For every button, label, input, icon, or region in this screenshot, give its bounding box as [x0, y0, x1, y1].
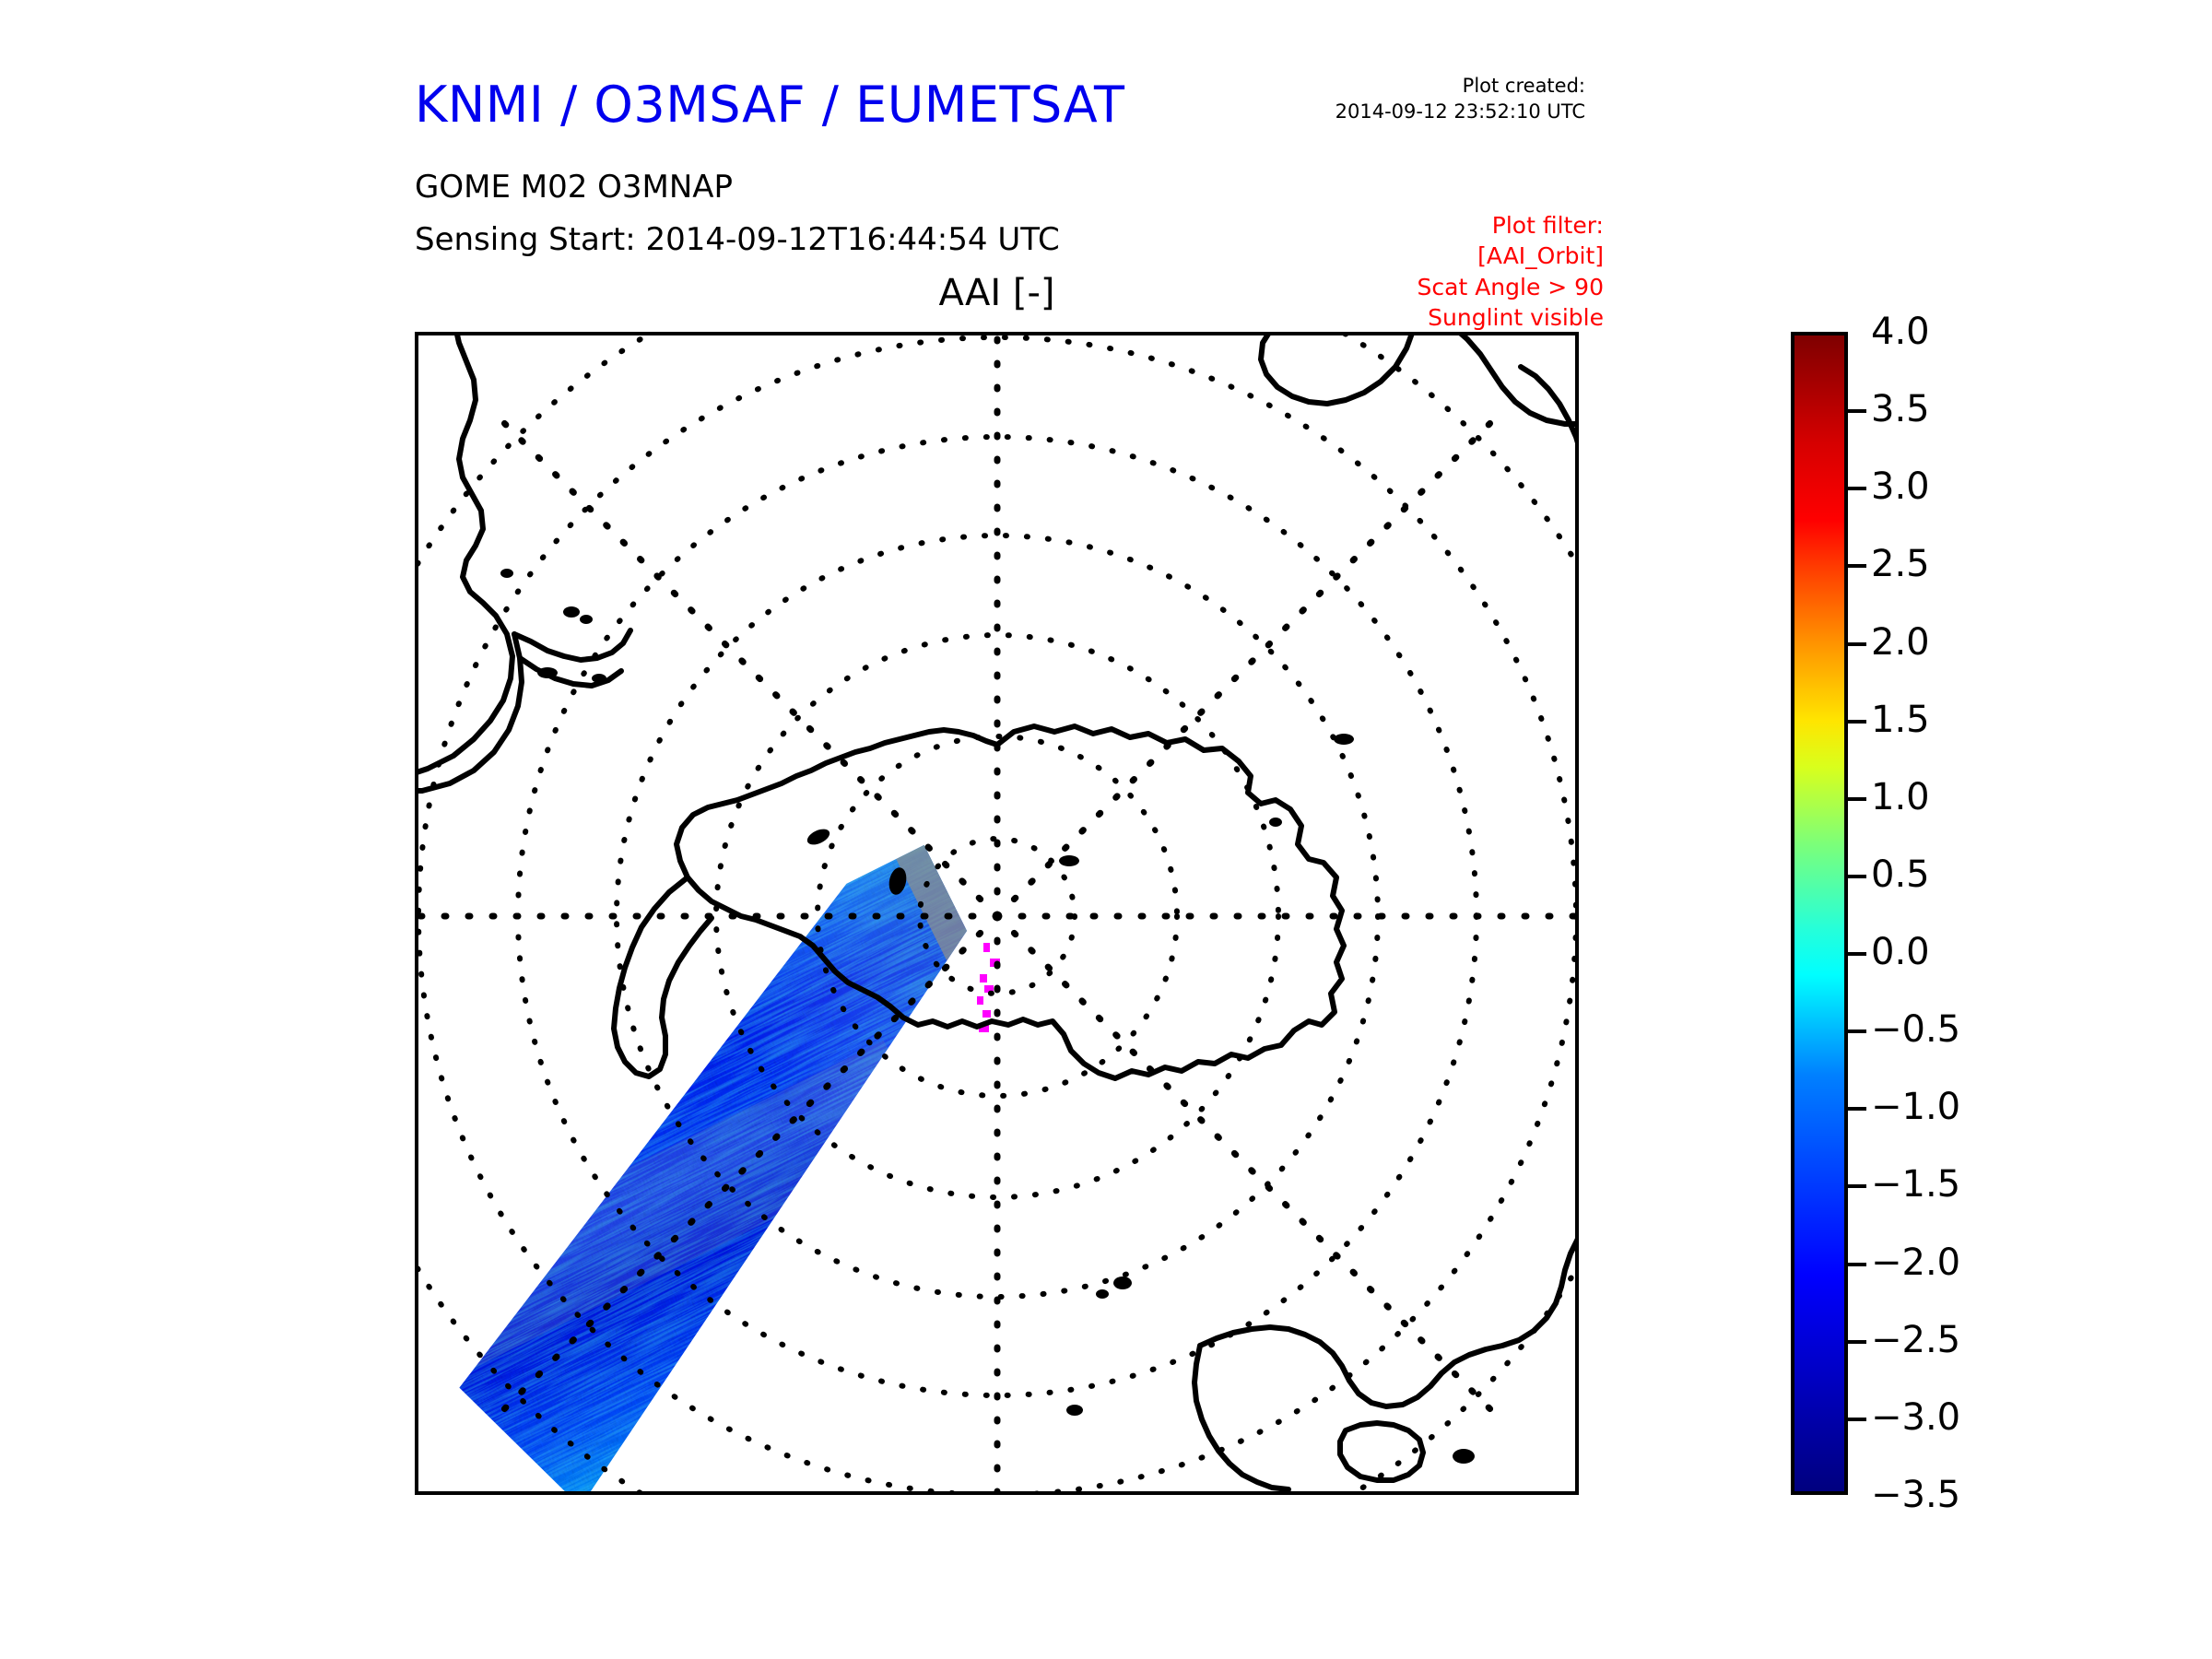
colorbar-tick-label: 4.0	[1871, 311, 1930, 353]
map-title: AAI [-]	[415, 272, 1579, 314]
colorbar-tick	[1848, 487, 1866, 490]
meridian-45	[997, 414, 1500, 916]
coastline-antarctic-peninsula	[614, 877, 712, 1077]
coastline-tierra-del-fuego-south	[520, 658, 621, 686]
colorbar-tick-label: −3.5	[1871, 1474, 1960, 1516]
map-plot-area[interactable]	[415, 332, 1579, 1495]
brand-title: KNMI / O3MSAF / EUMETSAT	[415, 76, 1124, 134]
coastline-australia-south	[1194, 1346, 1288, 1489]
colorbar-tick	[1848, 1107, 1866, 1111]
swath-seam	[928, 1002, 988, 1105]
coastline-south-america	[418, 335, 512, 783]
colorbar	[1791, 332, 1848, 1495]
plot-filter-label: Plot filter:	[1198, 210, 1604, 241]
islands-indian-ocean	[1269, 734, 1354, 827]
sensing-start-line: Sensing Start: 2014-09-12T16:44:54 UTC	[415, 221, 1060, 258]
colorbar-tick-label: 1.5	[1871, 699, 1930, 741]
colorbar-tick-label: −2.5	[1871, 1319, 1960, 1361]
coastline-tierra-del-fuego	[514, 630, 630, 660]
map-canvas	[418, 335, 1575, 1491]
coastline-tasmania	[1340, 1423, 1423, 1480]
colorbar-tick-label: 3.0	[1871, 465, 1930, 508]
coastline-australia	[1200, 1239, 1575, 1406]
colorbar-tick	[1848, 409, 1866, 413]
colorbar-tick-label: −0.5	[1871, 1008, 1960, 1051]
colorbar-tick-label: 0.0	[1871, 931, 1930, 973]
dataset-line: GOME M02 O3MNAP	[415, 169, 733, 206]
colorbar-tick-label: −1.0	[1871, 1086, 1960, 1128]
colorbar-tick	[1848, 797, 1866, 801]
colorbar-tick	[1848, 720, 1866, 724]
colorbar-tick-label: −2.0	[1871, 1241, 1960, 1284]
meridian-135	[997, 916, 1500, 1418]
colorbar-tick	[1848, 1030, 1866, 1033]
colorbar-tick	[1848, 1263, 1866, 1266]
colorbar-tick-labels: 4.03.53.02.52.01.51.00.50.0−0.5−1.0−1.5−…	[1871, 332, 2147, 1495]
colorbar-tick	[1848, 952, 1866, 956]
coastline-africa	[1261, 335, 1419, 404]
coastline-africa-east	[1419, 335, 1575, 424]
colorbar-tick-label: 3.5	[1871, 388, 1930, 430]
colorbar-tick-label: 1.0	[1871, 776, 1930, 818]
colorbar-tick	[1848, 642, 1866, 646]
colorbar-tick	[1848, 564, 1866, 568]
colorbar-tick	[1848, 1340, 1866, 1344]
colorbar-tick-label: 0.5	[1871, 853, 1930, 896]
colorbar-tick-label: 2.5	[1871, 543, 1930, 585]
meridian-315	[495, 414, 997, 916]
colorbar-tick-label: −1.5	[1871, 1163, 1960, 1206]
colorbar-tick	[1848, 1184, 1866, 1188]
colorbar-tick	[1848, 875, 1866, 878]
colorbar-tick-label: 2.0	[1871, 621, 1930, 664]
colorbar-tick-label: −3.0	[1871, 1396, 1960, 1439]
plot-created-label: Plot created:	[1217, 74, 1585, 100]
plot-filter-name: [AAI_Orbit]	[1198, 241, 1604, 271]
colorbar-tick	[1848, 1418, 1866, 1421]
plot-created-block: Plot created: 2014-09-12 23:52:10 UTC	[1217, 74, 1585, 124]
plot-created-timestamp: 2014-09-12 23:52:10 UTC	[1217, 100, 1585, 125]
